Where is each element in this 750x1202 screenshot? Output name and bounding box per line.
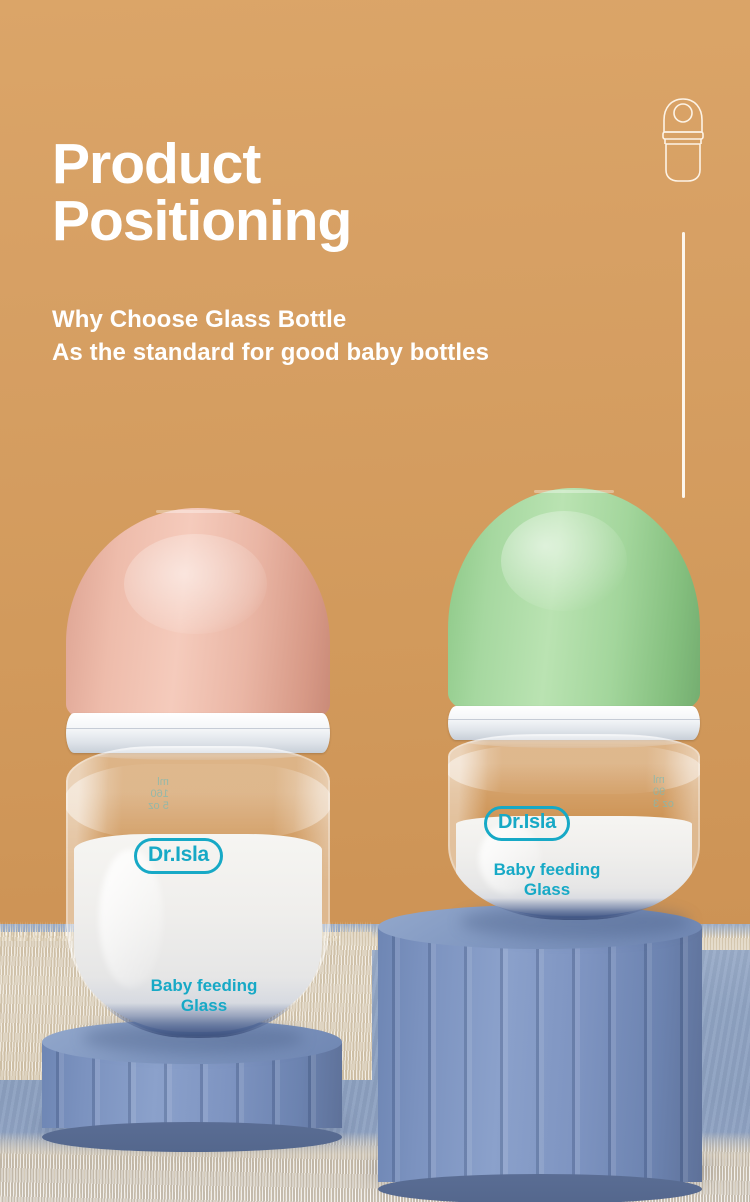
glass-base-shadow: [458, 898, 690, 920]
page-title: Product Positioning: [52, 136, 351, 250]
product-positioning-banner: Product Positioning Why Choose Glass Bot…: [0, 0, 750, 1202]
collar-line: [66, 728, 330, 729]
green-bottle-tagline: Baby feeding Glass: [472, 860, 622, 900]
cap-seam: [534, 490, 615, 493]
vertical-rule: [682, 232, 685, 498]
cap-highlight: [501, 511, 627, 611]
cap-seam: [156, 510, 241, 513]
glass-rim: [82, 746, 314, 760]
page-subtitle: Why Choose Glass Bottle As the standard …: [52, 303, 489, 369]
pink-bottle-brand-logo: Dr.Isla: [134, 838, 223, 874]
green-bottle-scale-marks: ml 90 oz 3: [653, 774, 674, 810]
glass-waist-highlight: [66, 764, 330, 840]
cap-highlight: [124, 534, 267, 634]
collar-line: [448, 719, 700, 720]
product-green-bottle[interactable]: ml 90 oz 3 Dr.Isla Baby feeding Glass: [448, 488, 700, 920]
glass-rim: [463, 734, 685, 748]
pedestal-right-bottom: [378, 1174, 702, 1202]
green-bottle-brand-logo: Dr.Isla: [484, 806, 570, 841]
pedestal-right-body: [378, 927, 702, 1182]
baby-bottle-outline-icon: [652, 96, 714, 184]
pedestal-left-bottom: [42, 1122, 342, 1152]
pedestal-right-flutes: [378, 927, 702, 1182]
green-dome-cap: [448, 488, 700, 716]
product-pink-bottle[interactable]: ml 160 5 oz Dr.Isla Baby feeding Glass: [66, 508, 330, 1038]
pink-dome-cap: [66, 508, 330, 726]
pink-bottle-scale-marks: ml 160 5 oz: [148, 776, 169, 812]
pink-bottle-tagline: Baby feeding Glass: [124, 976, 284, 1016]
display-pedestal-right: [378, 905, 702, 1190]
